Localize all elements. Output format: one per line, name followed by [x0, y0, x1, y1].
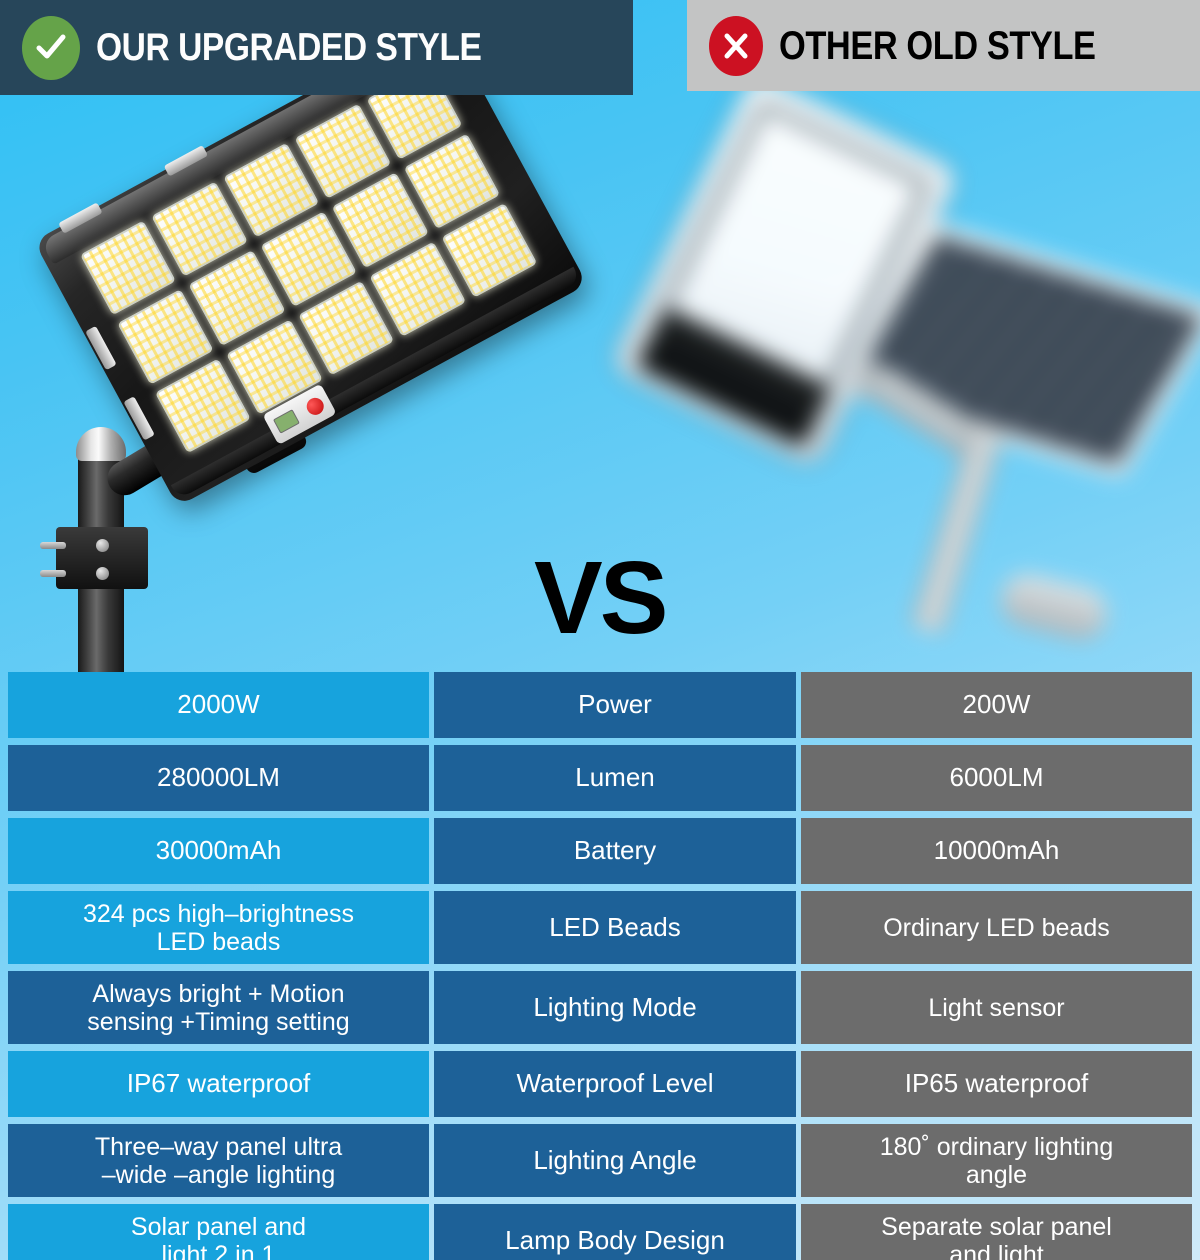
cell-feature: LED Beads	[434, 891, 796, 964]
table-row: Solar panel and light 2 in 1Lamp Body De…	[8, 1204, 1192, 1260]
cell-feature: Lighting Angle	[434, 1124, 796, 1197]
cell-feature: Power	[434, 672, 796, 738]
pole-chrome-cap	[76, 427, 126, 461]
vs-label: VS	[534, 546, 665, 649]
cell-ours: Always bright + Motion sensing +Timing s…	[8, 971, 429, 1044]
cell-ours: 280000LM	[8, 745, 429, 811]
cell-feature: Lamp Body Design	[434, 1204, 796, 1260]
cell-ours: 324 pcs high–brightness LED beads	[8, 891, 429, 964]
power-button-icon	[304, 394, 327, 417]
bracket-bolt	[40, 542, 66, 549]
header-ours-label: OUR UPGRADED STYLE	[96, 28, 481, 67]
x-circle-icon	[709, 16, 763, 76]
cell-feature: Lighting Mode	[434, 971, 796, 1044]
cell-theirs: 10000mAh	[801, 818, 1192, 884]
old-pole-base	[995, 569, 1112, 646]
table-row: 280000LMLumen6000LM	[8, 745, 1192, 811]
header-band: OUR UPGRADED STYLE OTHER OLD STYLE	[0, 0, 1200, 100]
cell-theirs: IP65 waterproof	[801, 1051, 1192, 1117]
cell-feature: Lumen	[434, 745, 796, 811]
cell-theirs: 200W	[801, 672, 1192, 738]
cell-theirs: 6000LM	[801, 745, 1192, 811]
header-ours: OUR UPGRADED STYLE	[0, 0, 633, 95]
cell-theirs: 180˚ ordinary lighting angle	[801, 1124, 1192, 1197]
cell-theirs: Separate solar panel and light	[801, 1204, 1192, 1260]
header-theirs-label: OTHER OLD STYLE	[779, 26, 1096, 66]
cell-ours: Three–way panel ultra –wide –angle light…	[8, 1124, 429, 1197]
old-mounting-pole	[910, 425, 1004, 636]
header-theirs: OTHER OLD STYLE	[687, 0, 1200, 91]
table-row: 2000WPower200W	[8, 672, 1192, 738]
cell-feature: Waterproof Level	[434, 1051, 796, 1117]
cell-theirs: Light sensor	[801, 971, 1192, 1044]
cell-ours: 2000W	[8, 672, 429, 738]
table-row: IP67 waterproofWaterproof LevelIP65 wate…	[8, 1051, 1192, 1117]
cell-ours: 30000mAh	[8, 818, 429, 884]
table-row: 324 pcs high–brightness LED beadsLED Bea…	[8, 891, 1192, 964]
table-row: 30000mAhBattery10000mAh	[8, 818, 1192, 884]
table-row: Always bright + Motion sensing +Timing s…	[8, 971, 1192, 1044]
bracket-bolt-head	[96, 539, 109, 552]
check-circle-icon	[22, 16, 80, 80]
bracket-bolt-head	[96, 567, 109, 580]
old-product-photo	[640, 95, 1200, 670]
cell-ours: IP67 waterproof	[8, 1051, 429, 1117]
cell-feature: Battery	[434, 818, 796, 884]
comparison-table: 2000WPower200W280000LMLumen6000LM30000mA…	[0, 672, 1200, 1260]
comparison-infographic: VS OUR UPGRADED STYLE OTHER OLD STYLE 20…	[0, 0, 1200, 1260]
bracket-bolt	[40, 570, 66, 577]
table-row: Three–way panel ultra –wide –angle light…	[8, 1124, 1192, 1197]
cell-ours: Solar panel and light 2 in 1	[8, 1204, 429, 1260]
hero-product-area: VS	[0, 0, 1200, 672]
lcd-display-icon	[273, 409, 300, 434]
cell-theirs: Ordinary LED beads	[801, 891, 1192, 964]
